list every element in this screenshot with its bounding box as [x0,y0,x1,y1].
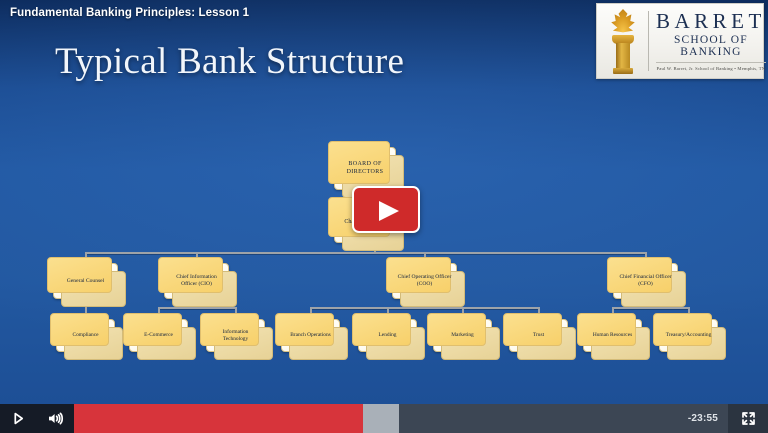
org-node-treasury-accounting[interactable]: Treasury/Accounting [659,319,718,352]
connector [310,307,539,309]
connector [158,307,235,309]
org-node-branch-operations[interactable]: Branch Operations [281,319,340,352]
org-node-coo[interactable]: Chief Operating Officer (COO) [392,263,457,299]
play-button[interactable] [0,404,37,433]
barret-school-logo: BARRET SCHOOL OF BANKING Paul W. Barret,… [596,3,764,79]
org-node-cfo[interactable]: Chief Financial Officer (CFO) [613,263,678,299]
org-node-cio[interactable]: Chief Information Officer (CIO) [164,263,229,299]
org-node-information-technology[interactable]: Information Technology [206,319,265,352]
course-title: Fundamental Banking Principles: Lesson 1 [10,7,249,19]
org-node-compliance[interactable]: Compliance [56,319,115,352]
player-controls: -23:55 [0,404,768,433]
play-icon [379,201,399,221]
org-node-marketing[interactable]: Marketing [433,319,492,352]
org-node-e-commerce[interactable]: E-Commerce [129,319,188,352]
seek-bar[interactable] [74,404,682,433]
big-play-button[interactable] [352,186,420,233]
logo-tagline: Paul W. Barret, Jr. School of Banking • … [656,62,766,71]
org-node-board-of-directors[interactable]: BOARD OF DIRECTORS [334,147,396,190]
org-node-general-counsel[interactable]: General Counsel [53,263,118,299]
video-player: Fundamental Banking Principles: Lesson 1… [0,0,768,433]
torch-icon [601,8,645,74]
fullscreen-button[interactable] [728,404,768,433]
fullscreen-icon [740,410,757,427]
logo-name: BARRET [656,11,766,32]
play-icon [11,411,26,426]
slide-title: Typical Bank Structure [55,40,404,83]
volume-icon [47,411,64,426]
logo-subtitle: SCHOOL OF BANKING [656,35,766,58]
slide-canvas: Fundamental Banking Principles: Lesson 1… [0,0,768,404]
org-node-trust[interactable]: Trust [509,319,568,352]
connector [85,252,645,254]
time-remaining: -23:55 [682,404,728,433]
connector [612,307,688,309]
org-node-lending[interactable]: Lending [358,319,417,352]
progress-buffered [363,404,399,433]
progress-played [74,404,363,433]
volume-button[interactable] [37,404,74,433]
org-node-human-resources[interactable]: Human Resources [583,319,642,352]
